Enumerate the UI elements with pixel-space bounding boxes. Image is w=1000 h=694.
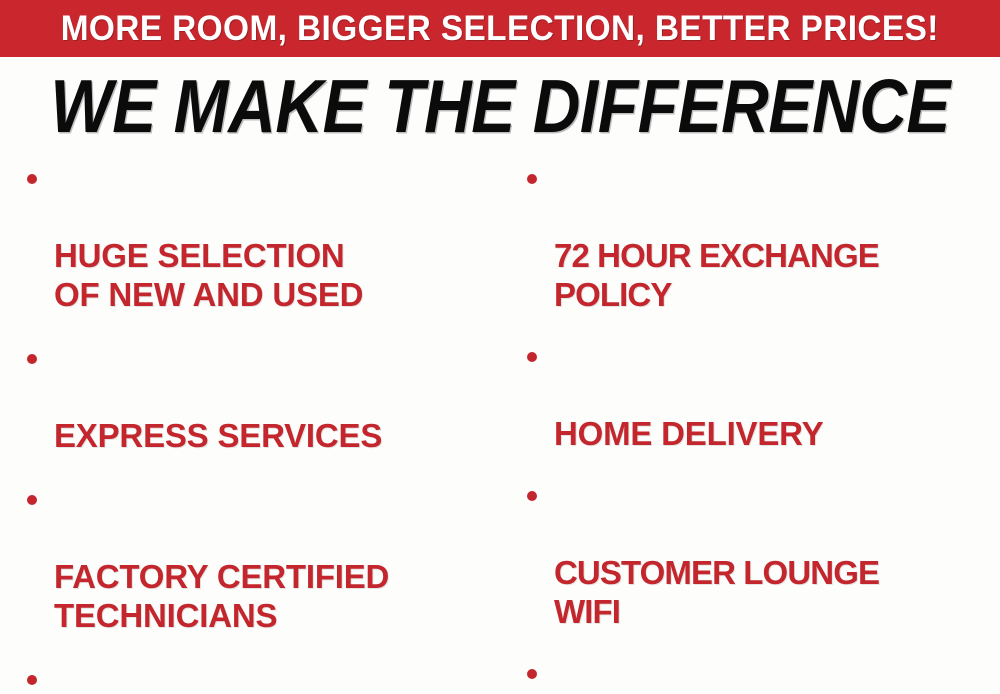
promo-poster: MORE ROOM, BIGGER SELECTION, BETTER PRIC… bbox=[0, 0, 1000, 694]
list-item: COMPLIMENTARY LOANER CARS bbox=[18, 659, 496, 694]
list-item: HUGE SELECTION OF NEW AND USED bbox=[18, 158, 496, 314]
feature-text: FACTORY CERTIFIED TECHNICIANS bbox=[54, 558, 389, 634]
list-item: EXPRESS SERVICES bbox=[18, 338, 496, 455]
list-item: FACTORY CERTIFIED TECHNICIANS bbox=[18, 479, 496, 635]
top-banner: MORE ROOM, BIGGER SELECTION, BETTER PRIC… bbox=[0, 0, 1000, 57]
features-columns: HUGE SELECTION OF NEW AND USED EXPRESS S… bbox=[0, 158, 1000, 694]
feature-text: EXPRESS SERVICES bbox=[54, 417, 382, 454]
feature-list-right: 72 HOUR EXCHANGE POLICY HOME DELIVERY CU… bbox=[518, 158, 1000, 694]
bullet-dot-icon bbox=[527, 669, 537, 679]
bullet-dot-icon bbox=[27, 495, 37, 505]
bullet-dot-icon bbox=[527, 352, 537, 362]
bullet-dot-icon bbox=[27, 354, 37, 364]
page-title: WE MAKE THE DIFFERENCE bbox=[50, 69, 950, 144]
features-column-left: HUGE SELECTION OF NEW AND USED EXPRESS S… bbox=[0, 158, 500, 694]
feature-text: HOME DELIVERY bbox=[554, 415, 823, 452]
bullet-dot-icon bbox=[27, 174, 37, 184]
list-item: 72 HOUR EXCHANGE POLICY bbox=[518, 158, 1000, 314]
list-item: HOME DELIVERY bbox=[518, 336, 1000, 453]
list-item: CUSTOMER LOUNGE WIFI bbox=[518, 475, 1000, 631]
headline-container: WE MAKE THE DIFFERENCE bbox=[0, 60, 1000, 152]
feature-list-left: HUGE SELECTION OF NEW AND USED EXPRESS S… bbox=[18, 158, 496, 694]
list-item: MILITARY DISCOUNTS bbox=[518, 653, 1000, 694]
bullet-dot-icon bbox=[527, 174, 537, 184]
feature-text: 72 HOUR EXCHANGE POLICY bbox=[554, 237, 879, 313]
bullet-dot-icon bbox=[27, 675, 37, 685]
bullet-dot-icon bbox=[527, 491, 537, 501]
features-column-right: 72 HOUR EXCHANGE POLICY HOME DELIVERY CU… bbox=[500, 158, 1000, 694]
banner-headline-text: MORE ROOM, BIGGER SELECTION, BETTER PRIC… bbox=[61, 11, 939, 46]
feature-text: CUSTOMER LOUNGE WIFI bbox=[554, 554, 879, 630]
feature-text: HUGE SELECTION OF NEW AND USED bbox=[54, 237, 363, 313]
